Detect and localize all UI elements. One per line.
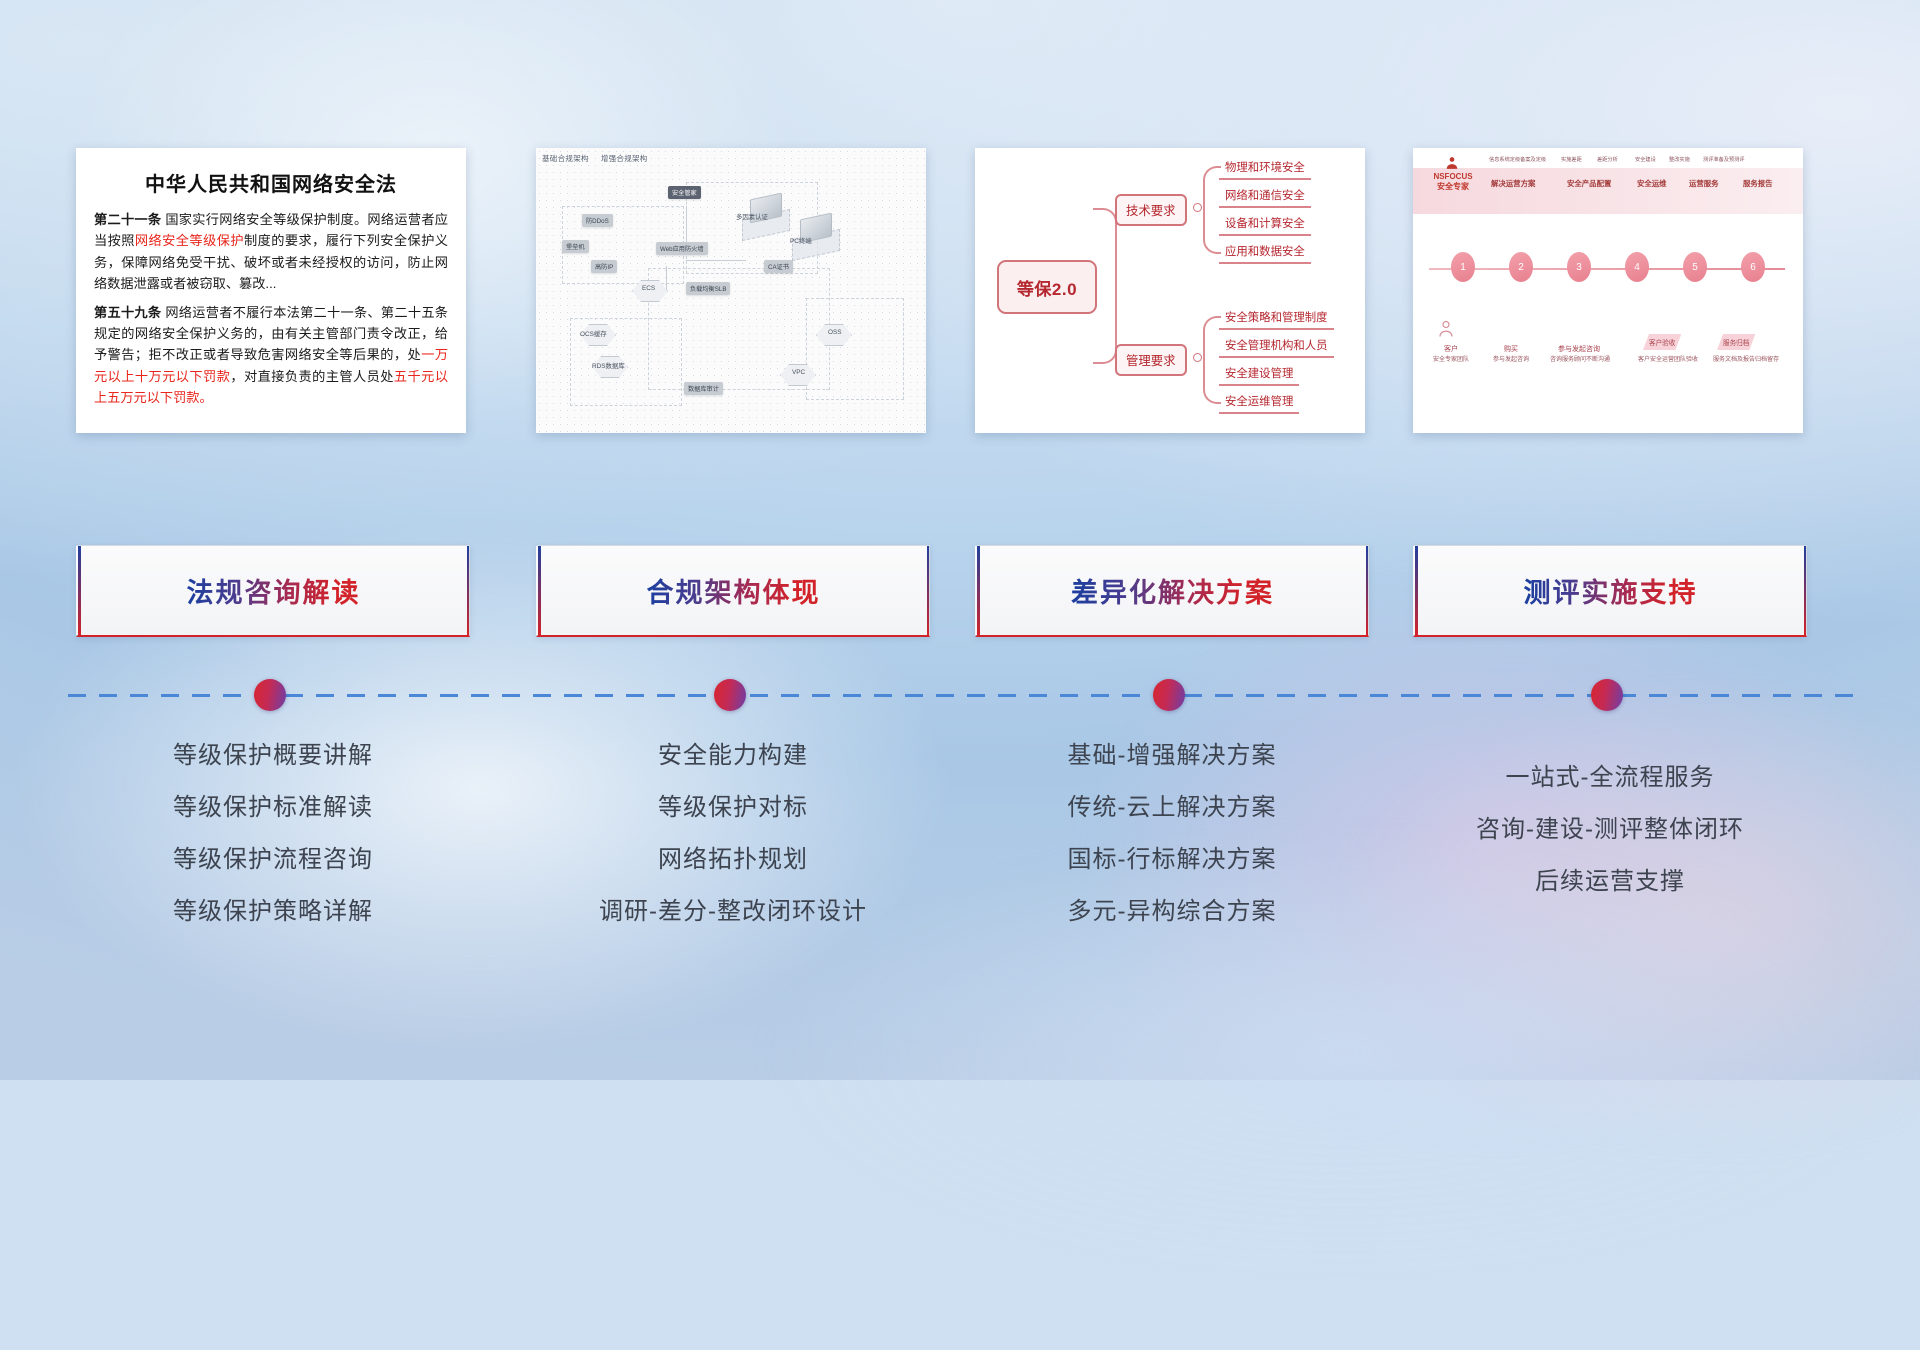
expert-person-icon bbox=[1445, 156, 1459, 170]
law-run-1-1: 网络安全等级保护 bbox=[135, 233, 244, 248]
mindmap-dot-technical bbox=[1193, 203, 1202, 212]
service-chip-2[interactable]: 安全产品配置 bbox=[1567, 178, 1611, 189]
service-step-3[interactable]: 3 bbox=[1567, 252, 1591, 282]
service-footlabel-customer-sub: 安全专家团队 bbox=[1421, 354, 1481, 363]
mindmap-category-management[interactable]: 管理要求 bbox=[1115, 344, 1187, 376]
diagram-node-db-audit[interactable]: 数据库审计 bbox=[684, 382, 723, 395]
list-item: 后续运营支撑 bbox=[1413, 856, 1807, 908]
list-column-2: 安全能力构建 等级保护对标 网络拓扑规划 调研-差分-整改闭环设计 bbox=[536, 730, 930, 938]
diagram-node-antiddos[interactable]: 防DDoS bbox=[582, 214, 613, 227]
service-step-2[interactable]: 2 bbox=[1509, 252, 1533, 282]
mindmap-card[interactable]: 等保2.0 技术要求 物理和环境安全 网络和通信安全 设备和计算安全 应用和数据… bbox=[975, 148, 1365, 433]
mindmap-dot-management bbox=[1193, 353, 1202, 362]
diagram-label-mfa: 多因素认证 bbox=[736, 212, 768, 221]
law-article-label-2: 第五十九条 bbox=[94, 305, 161, 320]
diagram-node-ca[interactable]: CA证书 bbox=[764, 260, 793, 273]
service-toptag-5: 整改实施 bbox=[1669, 156, 1690, 163]
diagram-label-vpc: VPC bbox=[792, 369, 805, 376]
timeline-dashed-line bbox=[68, 694, 1858, 697]
list-column-4: 一站式-全流程服务 咨询-建设-测评整体闭环 后续运营支撑 bbox=[1413, 752, 1807, 908]
brand-logo: NSFOCUS 安全专家 bbox=[1423, 172, 1483, 192]
headline-label-1: 法规咨询解读 bbox=[187, 571, 361, 610]
mindmap-node-m4[interactable]: 安全运维管理 bbox=[1219, 392, 1299, 414]
diagram-label-pc-terminal: PC终端 bbox=[790, 236, 812, 245]
headline-box-2[interactable]: 合规架构体现 bbox=[536, 545, 930, 637]
diagram-node-bastion[interactable]: 堡垒机 bbox=[562, 240, 589, 253]
architecture-card[interactable]: 基础合规架构增强合规架构 安全管家 多因素认证 PC终端 防DDoS 堡垒机 bbox=[536, 148, 926, 433]
law-card-title: 中华人民共和国网络安全法 bbox=[94, 168, 448, 197]
service-footlabel-customer-title: 客户 bbox=[1431, 344, 1471, 354]
list-item: 等级保护对标 bbox=[536, 782, 930, 834]
service-righttag-1[interactable]: 客户验收 bbox=[1643, 334, 1681, 350]
mindmap-category-technical[interactable]: 技术要求 bbox=[1115, 194, 1187, 226]
brand-subtitle: 安全专家 bbox=[1423, 182, 1483, 192]
slide-stage: 中华人民共和国网络安全法 第二十一条 国家实行网络安全等级保护制度。网络运营者应… bbox=[0, 0, 1920, 1080]
diagram-label-rds: RDS数据库 bbox=[592, 361, 625, 370]
headline-label-3: 差异化解决方案 bbox=[1071, 571, 1274, 610]
diagram-header-tabs: 基础合规架构增强合规架构 bbox=[542, 153, 660, 164]
list-item: 网络拓扑规划 bbox=[536, 834, 930, 886]
service-step-4[interactable]: 4 bbox=[1625, 252, 1649, 282]
list-item: 一站式-全流程服务 bbox=[1413, 752, 1807, 804]
diagram-tab-enhanced[interactable]: 增强合规架构 bbox=[601, 154, 648, 163]
service-step-1[interactable]: 1 bbox=[1451, 252, 1475, 282]
list-item: 等级保护策略详解 bbox=[76, 886, 470, 938]
diagram-tab-basic[interactable]: 基础合规架构 bbox=[542, 154, 589, 163]
lists-row: 等级保护概要讲解 等级保护标准解读 等级保护流程咨询 等级保护策略详解 安全能力… bbox=[0, 730, 1920, 990]
mindmap-root-connector-up bbox=[1093, 208, 1117, 288]
mindmap-node-t2[interactable]: 网络和通信安全 bbox=[1219, 186, 1311, 208]
mindmap-node-t1[interactable]: 物理和环境安全 bbox=[1219, 158, 1311, 180]
law-card-body: 中华人民共和国网络安全法 第二十一条 国家实行网络安全等级保护制度。网络运营者应… bbox=[76, 148, 466, 433]
list-item: 咨询-建设-测评整体闭环 bbox=[1413, 804, 1807, 856]
service-righttag-1-sub: 客户安全运营团队验收 bbox=[1629, 354, 1707, 363]
service-chip-3[interactable]: 安全运维 bbox=[1637, 178, 1667, 189]
service-chip-4[interactable]: 运营服务 bbox=[1689, 178, 1719, 189]
timeline-marker-1[interactable] bbox=[254, 679, 286, 711]
headline-box-1[interactable]: 法规咨询解读 bbox=[76, 545, 470, 637]
service-righttag-2-sub: 服务文档及报告归档留存 bbox=[1705, 354, 1787, 363]
timeline-marker-3[interactable] bbox=[1153, 679, 1185, 711]
list-item: 安全能力构建 bbox=[536, 730, 930, 782]
list-item: 等级保护标准解读 bbox=[76, 782, 470, 834]
mindmap-node-m3[interactable]: 安全建设管理 bbox=[1219, 364, 1299, 386]
service-step-5[interactable]: 5 bbox=[1683, 252, 1707, 282]
list-item: 等级保护概要讲解 bbox=[76, 730, 470, 782]
brand-name: NSFOCUS bbox=[1423, 172, 1483, 182]
list-item: 国标-行标解决方案 bbox=[975, 834, 1369, 886]
list-column-1: 等级保护概要讲解 等级保护标准解读 等级保护流程咨询 等级保护策略详解 bbox=[76, 730, 470, 938]
mindmap-root-connector-down bbox=[1093, 284, 1117, 364]
headline-label-4: 测评实施支持 bbox=[1524, 571, 1698, 610]
headline-row: 法规咨询解读 合规架构体现 差异化解决方案 测评实施支持 bbox=[0, 545, 1920, 637]
service-footlabel-purchase-sub: 参与发起咨询 bbox=[1481, 354, 1541, 363]
service-timeline-diagram: NSFOCUS 安全专家 信息系统定级备案及定级 实施差距 差距分析 安全建设 … bbox=[1413, 148, 1803, 433]
service-toptag-2: 实施差距 bbox=[1561, 156, 1582, 163]
timeline-marker-4[interactable] bbox=[1591, 679, 1623, 711]
headline-label-2: 合规架构体现 bbox=[647, 571, 821, 610]
mindmap-node-m2[interactable]: 安全管理机构和人员 bbox=[1219, 336, 1334, 358]
diagram-label-ocs: OCS缓存 bbox=[580, 329, 607, 338]
diagram-label-ecs: ECS bbox=[642, 285, 655, 292]
service-step-6[interactable]: 6 bbox=[1741, 252, 1765, 282]
service-timeline-card[interactable]: NSFOCUS 安全专家 信息系统定级备案及定级 实施差距 差距分析 安全建设 … bbox=[1413, 148, 1803, 433]
list-item: 调研-差分-整改闭环设计 bbox=[536, 886, 930, 938]
law-article-label-1: 第二十一条 bbox=[94, 212, 161, 227]
timeline-marker-2[interactable] bbox=[714, 679, 746, 711]
service-toptag-6: 测评准备及预测评 bbox=[1703, 156, 1745, 163]
service-toptag-4: 安全建设 bbox=[1635, 156, 1656, 163]
diagram-node-security-steward[interactable]: 安全管家 bbox=[668, 186, 701, 199]
service-toptag-3: 差距分析 bbox=[1597, 156, 1618, 163]
headline-box-4[interactable]: 测评实施支持 bbox=[1413, 545, 1807, 637]
law-run-2-2: ，对直接负责的主管人员处 bbox=[230, 369, 394, 384]
service-footlabel-consult-sub: 咨询服务顾问不断沟通 bbox=[1543, 354, 1617, 363]
law-paragraph-1: 第二十一条 国家实行网络安全等级保护制度。网络运营者应当按照网络安全等级保护制度… bbox=[94, 209, 448, 295]
customer-person-icon bbox=[1437, 320, 1455, 338]
service-footlabel-purchase-title: 购买 bbox=[1491, 344, 1531, 354]
diagram-link-2 bbox=[686, 260, 746, 261]
architecture-diagram: 基础合规架构增强合规架构 安全管家 多因素认证 PC终端 防DDoS 堡垒机 bbox=[536, 148, 926, 433]
diagram-node-highdefense-ip[interactable]: 高防IP bbox=[591, 260, 617, 273]
service-track bbox=[1429, 268, 1785, 270]
list-item: 等级保护流程咨询 bbox=[76, 834, 470, 886]
law-paragraph-2: 第五十九条 网络运营者不履行本法第二十一条、第二十五条规定的网络安全保护义务的，… bbox=[94, 302, 448, 409]
mindmap-node-t3[interactable]: 设备和计算安全 bbox=[1219, 214, 1311, 236]
list-column-3: 基础-增强解决方案 传统-云上解决方案 国标-行标解决方案 多元-异构综合方案 bbox=[975, 730, 1369, 938]
service-toptag-1: 信息系统定级备案及定级 bbox=[1489, 156, 1546, 163]
diagram-zone-5 bbox=[806, 298, 904, 400]
cards-row: 中华人民共和国网络安全法 第二十一条 国家实行网络安全等级保护制度。网络运营者应… bbox=[0, 148, 1920, 438]
service-footlabel-consult-title: 参与发起咨询 bbox=[1551, 344, 1607, 354]
list-item: 基础-增强解决方案 bbox=[975, 730, 1369, 782]
diagram-node-waf[interactable]: Web应用防火墙 bbox=[656, 242, 708, 255]
list-item: 传统-云上解决方案 bbox=[975, 782, 1369, 834]
mindmap-diagram: 等保2.0 技术要求 物理和环境安全 网络和通信安全 设备和计算安全 应用和数据… bbox=[975, 148, 1365, 433]
headline-box-3[interactable]: 差异化解决方案 bbox=[975, 545, 1369, 637]
service-righttag-2[interactable]: 服务归档 bbox=[1717, 334, 1755, 350]
diagram-link-1 bbox=[686, 206, 687, 242]
diagram-node-slb[interactable]: 负载均衡SLB bbox=[686, 282, 730, 295]
diagram-label-oss: OSS bbox=[828, 329, 842, 336]
list-item: 多元-异构综合方案 bbox=[975, 886, 1369, 938]
mindmap-node-m1[interactable]: 安全策略和管理制度 bbox=[1219, 308, 1334, 330]
service-chip-1[interactable]: 解决运营方案 bbox=[1491, 178, 1535, 189]
service-chip-5[interactable]: 服务报告 bbox=[1743, 178, 1773, 189]
mindmap-node-t4[interactable]: 应用和数据安全 bbox=[1219, 242, 1311, 264]
law-card[interactable]: 中华人民共和国网络安全法 第二十一条 国家实行网络安全等级保护制度。网络运营者应… bbox=[76, 148, 466, 433]
diagram-link-3 bbox=[666, 266, 667, 290]
mindmap-root-node[interactable]: 等保2.0 bbox=[997, 260, 1097, 314]
